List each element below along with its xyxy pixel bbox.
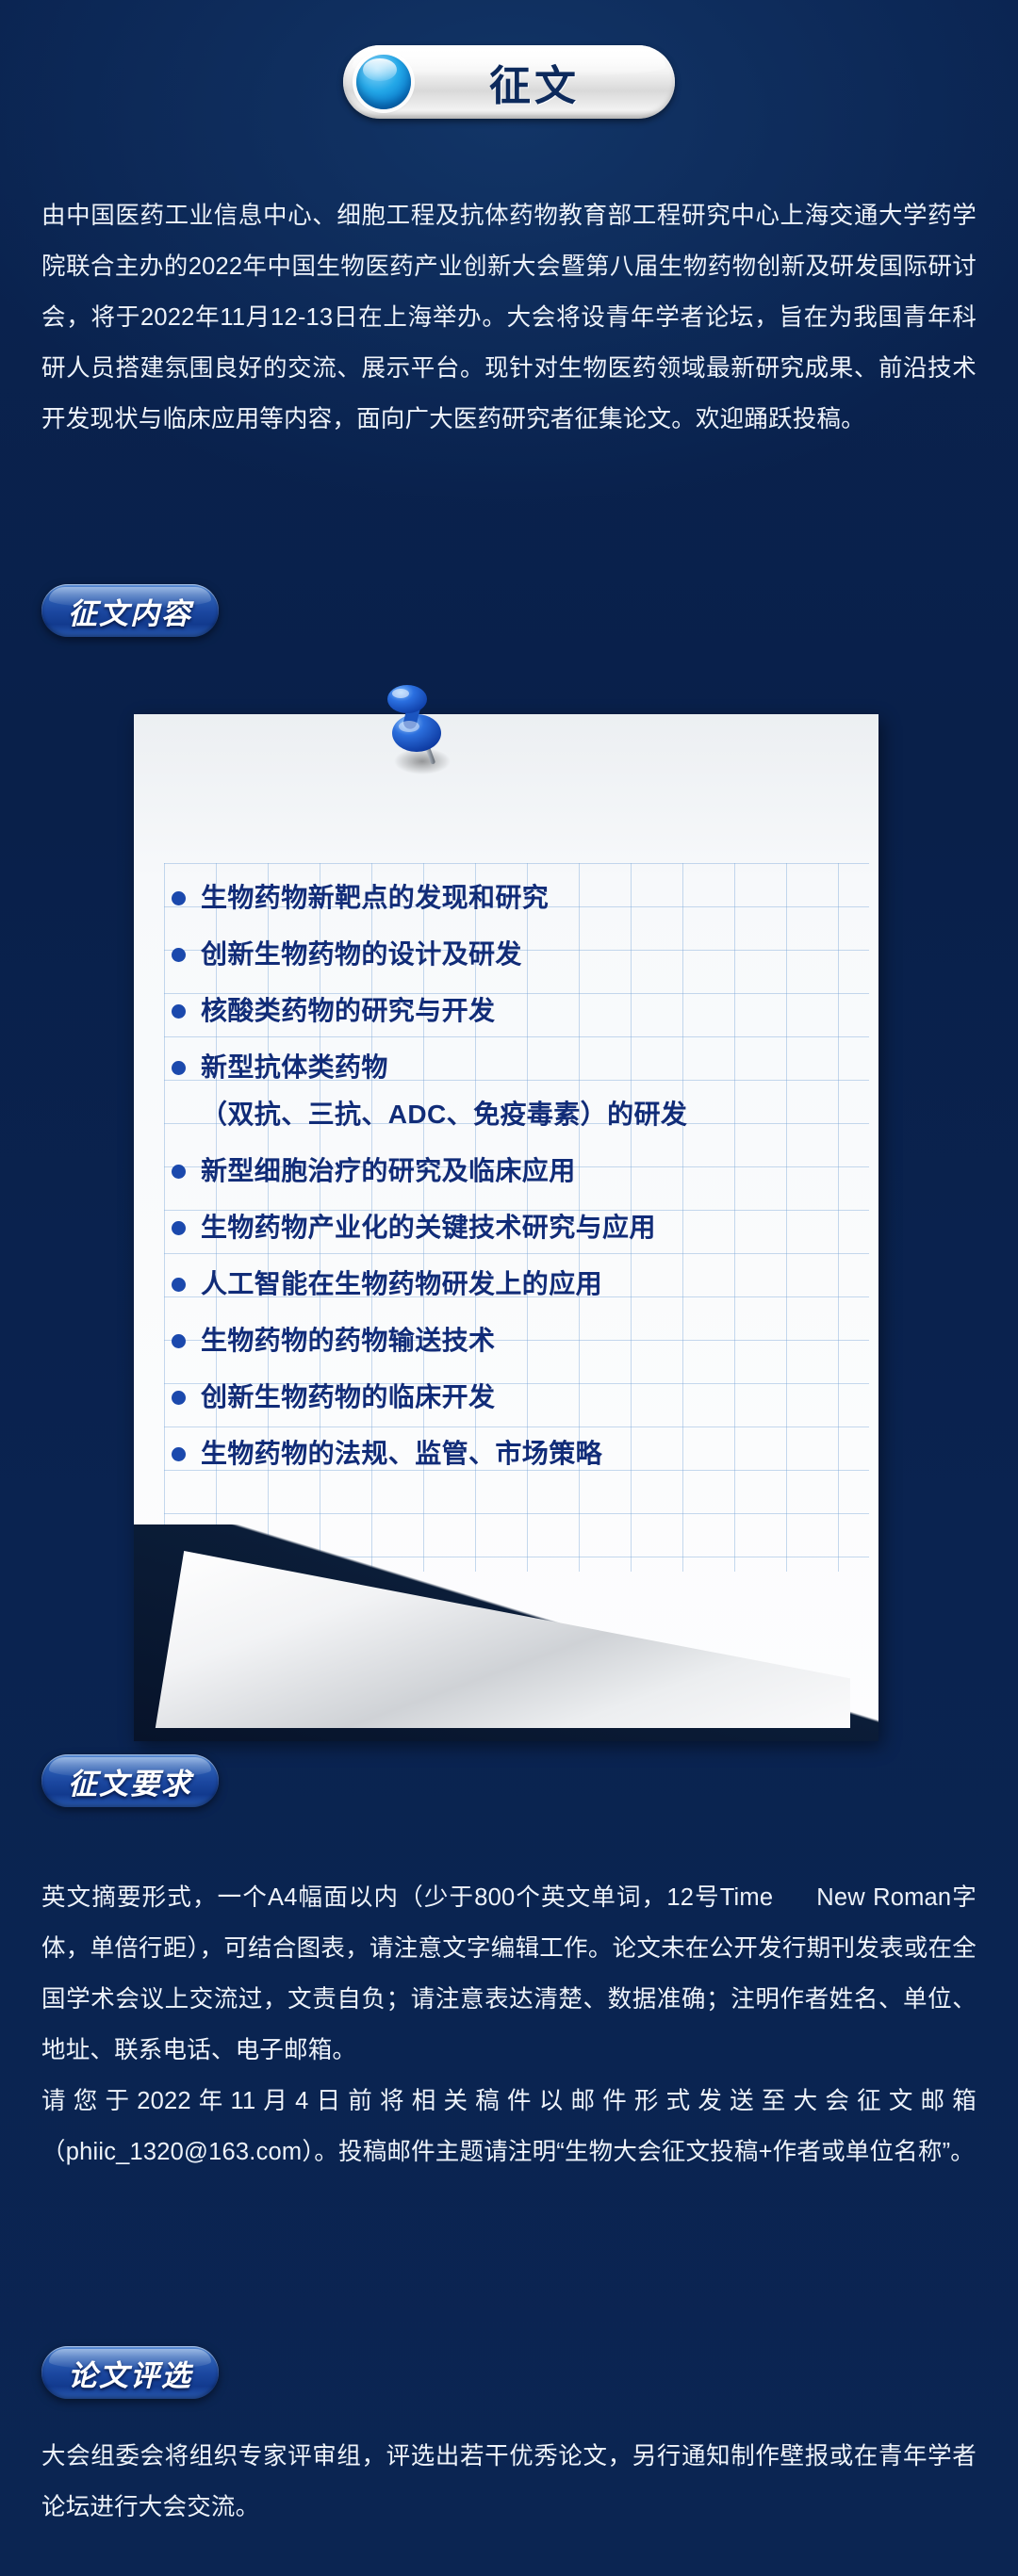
paper-surface: 生物药物新靶点的发现和研究创新生物药物的设计及研发核酸类药物的研究与开发新型抗体… xyxy=(134,714,878,1741)
topic-list-item-label: 生物药物的法规、监管、市场策略 xyxy=(201,1432,858,1475)
paper-curl-shadow xyxy=(134,1524,878,1741)
section-badge-requirements-label: 征文要求 xyxy=(68,1760,192,1802)
requirements-line1a: 英文摘要形式，一个A4幅面以内（少于800个英文单词，12号Time xyxy=(41,1884,773,1911)
review-paragraph: 大会组委会将组织专家评审组，评选出若干优秀论文，另行通知制作壁报或在青年学者论坛… xyxy=(41,2431,977,2533)
topic-list-item-label: 核酸类药物的研究与开发 xyxy=(201,989,858,1033)
topic-list-item: 生物药物产业化的关键技术研究与应用 xyxy=(172,1206,858,1249)
topic-list-item-label: 人工智能在生物药物研发上的应用 xyxy=(201,1263,858,1306)
bullet-dot-icon xyxy=(172,1165,186,1179)
topic-list-item-label: 新型细胞治疗的研究及临床应用 xyxy=(201,1149,858,1193)
section-badge-review-label: 论文评选 xyxy=(68,2352,192,2394)
review-block: 大会组委会将组织专家评审组，评选出若干优秀论文，另行通知制作壁报或在青年学者论坛… xyxy=(41,2431,977,2533)
topic-list-item-label: 生物药物产业化的关键技术研究与应用 xyxy=(201,1206,858,1249)
requirements-block: 英文摘要形式，一个A4幅面以内（少于800个英文单词，12号TimeNew Ro… xyxy=(41,1872,977,2177)
bullet-dot-icon xyxy=(172,1004,186,1019)
bullet-dot-icon xyxy=(172,1221,186,1235)
bullet-dot-icon xyxy=(172,1391,186,1405)
topic-list-item: 生物药物新靶点的发现和研究 xyxy=(172,876,858,920)
bullet-dot-icon xyxy=(172,1061,186,1075)
blue-pushpin-icon xyxy=(373,677,458,780)
topic-list-item: 创新生物药物的设计及研发 xyxy=(172,933,858,976)
topic-list-item: 创新生物药物的临床开发 xyxy=(172,1376,858,1419)
page-title: 征文 xyxy=(411,52,675,112)
topic-list-item: 生物药物的药物输送技术 xyxy=(172,1319,858,1362)
bullet-dot-icon xyxy=(172,1334,186,1348)
glossy-blue-orb-icon xyxy=(356,55,411,109)
topic-list-item-label: 创新生物药物的临床开发 xyxy=(201,1376,858,1419)
topic-list-item-sublabel: （双抗、三抗、ADC、免疫毒素）的研发 xyxy=(201,1093,858,1136)
topics-paper-card: 生物药物新靶点的发现和研究创新生物药物的设计及研发核酸类药物的研究与开发新型抗体… xyxy=(134,714,878,1741)
bullet-dot-icon xyxy=(172,1278,186,1292)
topic-list-item-label: 新型抗体类药物（双抗、三抗、ADC、免疫毒素）的研发 xyxy=(201,1046,858,1136)
paper-curl-corner xyxy=(134,1524,878,1741)
topic-list-item: 人工智能在生物药物研发上的应用 xyxy=(172,1263,858,1306)
requirements-paragraph-1: 英文摘要形式，一个A4幅面以内（少于800个英文单词，12号TimeNew Ro… xyxy=(41,1872,977,2076)
topic-list-item-label: 创新生物药物的设计及研发 xyxy=(201,933,858,976)
intro-paragraph: 由中国医药工业信息中心、细胞工程及抗体药物教育部工程研究中心上海交通大学药学院联… xyxy=(41,190,977,445)
section-badge-content-label: 征文内容 xyxy=(68,590,192,632)
requirements-paragraph-2: 请您于2022年11月4日前将相关稿件以邮件形式发送至大会征文邮箱（phiic_… xyxy=(41,2076,977,2177)
intro-paragraph-block: 由中国医药工业信息中心、细胞工程及抗体药物教育部工程研究中心上海交通大学药学院联… xyxy=(41,190,977,445)
requirements-line1b: New Roman字体，单倍行距），可结合图表，请注意文字编辑工作。论文未在公开… xyxy=(41,1884,977,2063)
topic-list-item: 新型抗体类药物（双抗、三抗、ADC、免疫毒素）的研发 xyxy=(172,1046,858,1136)
topic-list-item: 核酸类药物的研究与开发 xyxy=(172,989,858,1033)
topic-list-item-label: 生物药物的药物输送技术 xyxy=(201,1319,858,1362)
paper-curl-sheet xyxy=(134,1551,850,1728)
topic-list-item: 生物药物的法规、监管、市场策略 xyxy=(172,1432,858,1475)
header-badge: 征文 xyxy=(343,45,675,119)
bullet-dot-icon xyxy=(172,1447,186,1461)
poster-page: 征文 由中国医药工业信息中心、细胞工程及抗体药物教育部工程研究中心上海交通大学药… xyxy=(0,0,1018,2576)
header-badge-container: 征文 xyxy=(0,45,1018,119)
bullet-dot-icon xyxy=(172,891,186,905)
section-badge-requirements: 征文要求 xyxy=(41,1754,219,1807)
topic-list-item: 新型细胞治疗的研究及临床应用 xyxy=(172,1149,858,1193)
section-badge-review: 论文评选 xyxy=(41,2346,219,2399)
section-badge-content: 征文内容 xyxy=(41,584,219,637)
topic-list-item-label: 生物药物新靶点的发现和研究 xyxy=(201,876,858,920)
topic-list: 生物药物新靶点的发现和研究创新生物药物的设计及研发核酸类药物的研究与开发新型抗体… xyxy=(172,876,858,1489)
bullet-dot-icon xyxy=(172,948,186,962)
